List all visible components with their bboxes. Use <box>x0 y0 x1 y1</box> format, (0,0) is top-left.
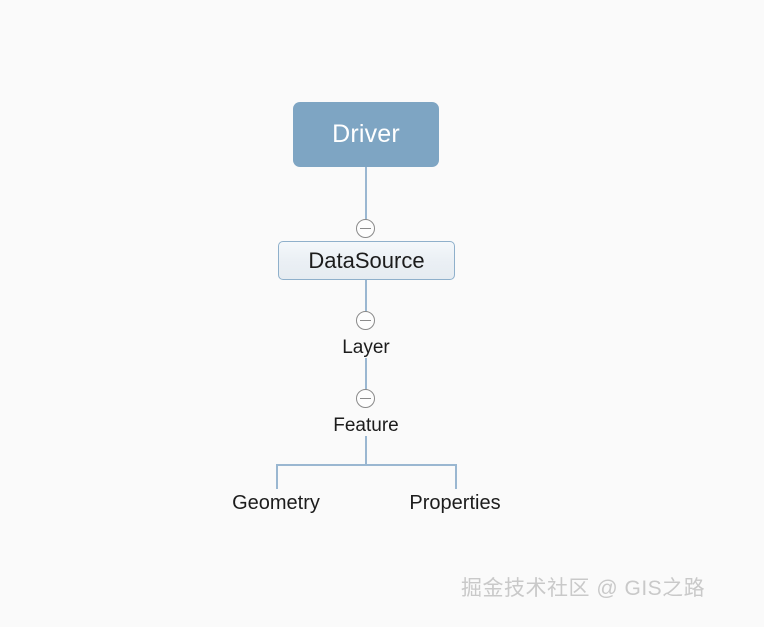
node-geometry-label: Geometry <box>232 492 320 514</box>
edge-branch-to-geometry <box>276 464 278 489</box>
node-properties-label: Properties <box>409 492 500 514</box>
collapse-datasource-toggle-icon[interactable] <box>356 219 375 238</box>
node-driver-label: Driver <box>332 122 400 147</box>
collapse-feature-toggle-icon[interactable] <box>356 389 375 408</box>
edge-datasource-to-layer <box>365 280 367 312</box>
edge-driver-to-datasource <box>365 167 367 222</box>
node-layer-label: Layer <box>342 337 390 358</box>
node-geometry[interactable]: Geometry <box>216 493 336 513</box>
node-datasource[interactable]: DataSource <box>278 241 455 280</box>
node-datasource-label: DataSource <box>308 250 424 272</box>
node-feature[interactable]: Feature <box>306 416 426 435</box>
edge-branch-bar <box>276 464 457 466</box>
node-driver[interactable]: Driver <box>293 102 439 167</box>
edge-feature-stem <box>365 436 367 465</box>
node-feature-label: Feature <box>333 415 398 436</box>
edge-branch-to-properties <box>455 464 457 489</box>
watermark: 掘金技术社区 @ GIS之路 <box>461 578 705 599</box>
node-layer[interactable]: Layer <box>306 338 426 357</box>
edge-layer-to-feature <box>365 358 367 390</box>
diagram-canvas: Driver DataSource Layer Feature Geometry… <box>0 0 764 627</box>
collapse-layer-toggle-icon[interactable] <box>356 311 375 330</box>
node-properties[interactable]: Properties <box>395 493 515 513</box>
